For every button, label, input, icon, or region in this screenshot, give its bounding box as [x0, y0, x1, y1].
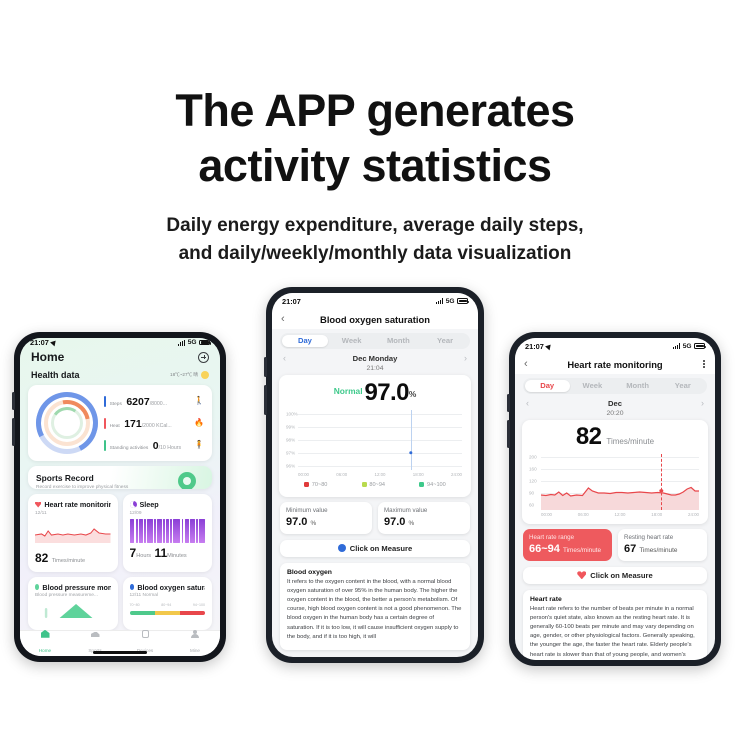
- date-navigator: ‹ Dec Monday ›: [272, 349, 478, 363]
- segment-week[interactable]: Week: [570, 380, 615, 393]
- x-tick: 12:00: [615, 512, 626, 517]
- sports-record-card[interactable]: Sports Record Record exercise to improve…: [28, 466, 212, 489]
- info-title: Heart rate: [530, 596, 700, 603]
- current-reading: 82Times/minute: [522, 423, 708, 451]
- metrics-list: Steps 6207/8000... 🚶 Heat 171/2000 KCal.…: [104, 392, 204, 454]
- metric-standing: Standing activities 0/10 Hours 🧍: [104, 436, 204, 454]
- range-label-high: 94~100: [193, 603, 205, 607]
- blood-oxygen-range-bar: [130, 611, 206, 615]
- metric-steps: Steps 6207/8000... 🚶: [104, 392, 204, 410]
- page-title: The APP generates activity statistics: [0, 84, 750, 194]
- legend-item-low: 70~80: [304, 482, 327, 488]
- metric-label: Steps: [110, 402, 122, 407]
- legend-label: 80~94: [369, 482, 385, 488]
- x-axis-labels: 00:00 06:00 12:00 18:00 24:00: [541, 512, 699, 517]
- info-body: It refers to the oxygen content in the b…: [287, 578, 463, 642]
- resting-heart-rate-card: Resting heart rate 67 Times/minute: [618, 529, 707, 561]
- click-on-measure-button[interactable]: Click on Measure: [280, 540, 470, 557]
- range-label-mid: 80~94: [161, 603, 171, 607]
- subheadline: Daily energy expenditure, average daily …: [0, 212, 750, 268]
- chart-legend: 70~80 80~94 94~100: [279, 476, 471, 488]
- y-tick: 90: [529, 490, 534, 495]
- home-title-text: Home: [31, 350, 64, 364]
- segment-year[interactable]: Year: [660, 380, 705, 393]
- plus-circle-icon[interactable]: [198, 352, 209, 363]
- heart-rate-info: Heart rate Heart rate refers to the numb…: [523, 590, 707, 660]
- status-badge: Normal: [334, 386, 363, 396]
- kebab-menu-icon[interactable]: [703, 360, 705, 368]
- sun-icon: [201, 371, 209, 379]
- current-date: Dec: [608, 399, 622, 408]
- reading-time: 21:04: [272, 365, 478, 372]
- y-tick: 98%: [286, 437, 295, 442]
- min-value: 97.0 %: [286, 516, 366, 528]
- card-subtitle: 12/11 Normal: [130, 593, 206, 598]
- battery-icon: [694, 343, 705, 349]
- measure-icon: [338, 544, 346, 552]
- x-tick: 06:00: [578, 512, 589, 517]
- current-date: Dec Monday: [353, 354, 398, 363]
- promo-page: The APP generates activity statistics Da…: [0, 0, 750, 750]
- card-date: 12/11: [35, 511, 111, 516]
- reading-unit: Times/minute: [606, 437, 654, 446]
- flame-icon: 🔥: [194, 419, 204, 427]
- signal-bars-icon: [673, 343, 681, 349]
- nav-bar: ‹ Heart rate monitoring: [515, 354, 715, 374]
- card-title: Blood oxygen saturation: [137, 583, 205, 592]
- phone-right-screen: 21:07 5G ‹ Heart rate monitoring Day Wee…: [515, 338, 715, 660]
- date-navigator: ‹ Dec ›: [515, 394, 715, 408]
- card-title: Blood pressure monitoring: [42, 583, 110, 592]
- legend-item-high: 94~100: [419, 482, 445, 488]
- x-tick: 06:00: [336, 472, 347, 477]
- subheadline-line-2: and daily/weekly/monthly data visualizat…: [0, 240, 750, 268]
- phone-center: 21:07 5G ‹ Blood oxygen saturation Day W…: [266, 287, 484, 663]
- heart-rate-range-card: Heart rate range 66~94 Times/minute: [523, 529, 612, 561]
- headline-line-2: activity statistics: [198, 140, 551, 191]
- weather-info: 18℃~27℃ 晴: [170, 371, 209, 379]
- green-dot-icon: [35, 584, 39, 590]
- nav-title: Blood oxygen saturation: [320, 314, 430, 325]
- x-tick: 00:00: [541, 512, 552, 517]
- y-tick: 160: [529, 466, 537, 471]
- moon-icon: [130, 501, 137, 508]
- info-title: Blood oxygen: [287, 569, 463, 576]
- watch-icon: [142, 630, 149, 638]
- next-date-icon[interactable]: ›: [701, 398, 704, 408]
- home-header: Home: [20, 347, 220, 364]
- phone-center-screen: 21:07 5G ‹ Blood oxygen saturation Day W…: [272, 293, 478, 657]
- signal-bars-icon: [178, 340, 186, 346]
- nav-title: Heart rate monitoring: [567, 359, 662, 370]
- y-tick: 97%: [286, 450, 295, 455]
- chart-marker-line: [661, 454, 662, 510]
- maximum-value-card: Maximum value 97.0 %: [378, 502, 470, 534]
- card-blood-oxygen[interactable]: Blood oxygen saturation 12/11 Normal 70~…: [123, 577, 213, 631]
- blood-oxygen-chart: 100% 99% 98% 97% 96% 00:00 06:00 12:00 1…: [286, 410, 464, 476]
- legend-label: 70~80: [312, 482, 328, 488]
- segment-year[interactable]: Year: [422, 335, 469, 348]
- tab-mine[interactable]: Mine: [170, 630, 220, 656]
- heart-rate-chart: 200 160 120 90 60 00:00 06:00 12:00: [529, 454, 701, 516]
- y-tick: 60: [529, 502, 534, 507]
- legend-item-mid: 80~94: [362, 482, 385, 488]
- y-tick: 96%: [286, 463, 295, 468]
- heart-rate-area-series: [541, 454, 699, 510]
- heart-rate-sparkline: [35, 519, 111, 543]
- tab-label: Mine: [190, 648, 200, 653]
- card-date: 12/09: [130, 511, 206, 516]
- network-label: 5G: [446, 298, 455, 305]
- health-data-label: Health data: [31, 370, 80, 380]
- tab-label: Home: [39, 648, 51, 653]
- chart-marker-line: [411, 410, 412, 470]
- status-bar: 21:07 5G: [20, 338, 220, 347]
- segment-month[interactable]: Month: [615, 380, 660, 393]
- activity-rings: [36, 392, 98, 454]
- x-tick: 24:00: [688, 512, 699, 517]
- current-reading: Normal97.0%: [279, 379, 471, 407]
- max-label: Maximum value: [384, 507, 464, 515]
- metric-heat: Heat 171/2000 KCal... 🔥: [104, 414, 204, 432]
- phone-left: 21:07 5G Home Health data: [14, 332, 226, 662]
- status-time: 21:07: [30, 338, 49, 347]
- subheadline-line-1: Daily energy expenditure, average daily …: [0, 212, 750, 240]
- shoe-icon: [91, 630, 100, 637]
- person-icon: [191, 630, 199, 638]
- weather-text: 18℃~27℃ 晴: [170, 372, 198, 378]
- network-label: 5G: [683, 343, 692, 350]
- y-tick: 200: [529, 454, 537, 459]
- x-tick: 18:00: [651, 512, 662, 517]
- segment-month[interactable]: Month: [375, 335, 422, 348]
- range-value: 66~94 Times/minute: [529, 543, 606, 555]
- range-label-low: 70~80: [130, 603, 140, 607]
- segment-week[interactable]: Week: [328, 335, 375, 348]
- y-tick: 99%: [286, 424, 295, 429]
- health-data-header: Health data 18℃~27℃ 晴: [20, 364, 220, 380]
- range-label: Heart rate range: [529, 534, 606, 542]
- segment-day[interactable]: Day: [282, 335, 329, 348]
- click-on-measure-button[interactable]: Click on Measure: [523, 567, 707, 584]
- resting-label: Resting heart rate: [624, 534, 701, 542]
- minmax-row: Minimum value 97.0 % Maximum value 97.0 …: [272, 497, 478, 534]
- heart-rate-chart-card: 82Times/minute 200 160 120 90 60 00: [522, 420, 708, 524]
- measure-label: Click on Measure: [590, 571, 652, 580]
- max-value: 97.0 %: [384, 516, 464, 528]
- sleep-bar-chart: [130, 519, 206, 543]
- metric-value: 171/2000 KCal...: [124, 418, 172, 430]
- headline-block: The APP generates activity statistics Da…: [0, 0, 750, 268]
- heart-icon: [35, 502, 41, 508]
- network-label: 5G: [188, 339, 197, 346]
- prev-date-icon[interactable]: ‹: [526, 398, 529, 408]
- blood-pressure-graphic: [35, 602, 111, 618]
- signal-bars-icon: [436, 298, 444, 304]
- measure-label: Click on Measure: [350, 544, 412, 553]
- blood-oxygen-chart-card: Normal97.0% 100% 99% 98% 97% 96% 00:00 0…: [279, 375, 471, 497]
- home-icon: [41, 630, 50, 638]
- resting-value: 67 Times/minute: [624, 543, 701, 555]
- tab-home[interactable]: Home: [20, 630, 70, 656]
- home-indicator: [93, 651, 147, 654]
- x-tick: 18:00: [413, 472, 424, 477]
- prev-date-icon[interactable]: ‹: [283, 353, 286, 363]
- period-segmented-control[interactable]: Day Week Month Year: [523, 378, 707, 394]
- reading-time: 20:20: [515, 410, 715, 417]
- status-bar: 21:07 5G: [272, 293, 478, 309]
- location-arrow-icon: [50, 339, 58, 347]
- info-body: Heart rate refers to the number of beats…: [530, 605, 700, 660]
- card-heart-rate[interactable]: Heart rate monitoring 12/11 82 Times/min…: [28, 494, 118, 572]
- card-blood-pressure[interactable]: Blood pressure monitoring Blood pressure…: [28, 577, 118, 631]
- metric-value: 6207/8000...: [126, 396, 167, 408]
- heart-rate-stats-row: Heart rate range 66~94 Times/minute Rest…: [515, 524, 715, 561]
- chevron-left-icon[interactable]: ‹: [281, 314, 285, 325]
- reading-value: 97.0: [365, 379, 409, 406]
- blue-dot-icon: [130, 584, 135, 590]
- battery-icon: [199, 340, 210, 346]
- card-sleep[interactable]: Sleep 12/09 7Hour: [123, 494, 213, 572]
- x-axis-labels: 00:00 06:00 12:00 18:00 24:00: [298, 472, 462, 477]
- legend-label: 94~100: [427, 482, 446, 488]
- reading-value: 82: [576, 423, 602, 450]
- x-tick: 24:00: [451, 472, 462, 477]
- metric-label: Heat: [110, 424, 120, 429]
- x-tick: 12:00: [375, 472, 386, 477]
- minimum-value-card: Minimum value 97.0 %: [280, 502, 372, 534]
- y-tick: 100%: [286, 411, 298, 416]
- heart-icon: [577, 571, 586, 579]
- walking-icon: 🚶: [194, 397, 204, 405]
- headline-line-1: The APP generates: [175, 85, 574, 136]
- nav-bar: ‹ Blood oxygen saturation: [272, 309, 478, 329]
- blood-oxygen-info: Blood oxygen It refers to the oxygen con…: [280, 563, 470, 650]
- card-title: Sleep: [140, 500, 159, 509]
- chart-data-point: [409, 451, 412, 454]
- segment-day[interactable]: Day: [525, 380, 570, 393]
- location-arrow-icon: [545, 342, 553, 350]
- metric-cards-grid: Heart rate monitoring 12/11 82 Times/min…: [28, 494, 212, 630]
- card-subtitle: Blood pressure measureme...: [35, 593, 111, 598]
- battery-icon: [457, 298, 468, 304]
- chevron-left-icon[interactable]: ‹: [524, 359, 528, 370]
- y-tick: 120: [529, 478, 537, 483]
- card-title: Heart rate monitoring: [44, 500, 110, 509]
- health-summary-card[interactable]: Steps 6207/8000... 🚶 Heat 171/2000 KCal.…: [28, 385, 212, 461]
- status-time: 21:07: [282, 297, 301, 306]
- status-bar: 21:07 5G: [515, 338, 715, 354]
- phone-left-screen: 21:07 5G Home Health data: [20, 338, 220, 656]
- next-date-icon[interactable]: ›: [464, 353, 467, 363]
- card-value: 82 Times/minute: [35, 551, 111, 565]
- min-label: Minimum value: [286, 507, 366, 515]
- stand-icon: 🧍: [194, 441, 204, 449]
- card-value: 7Hours 11Minutes: [130, 546, 206, 560]
- x-tick: 00:00: [298, 472, 309, 477]
- phone-right: 21:07 5G ‹ Heart rate monitoring Day Wee…: [509, 332, 721, 666]
- metric-value: 0/10 Hours: [153, 440, 181, 452]
- status-time: 21:07: [525, 342, 544, 351]
- metric-label: Standing activities: [110, 446, 149, 451]
- period-segmented-control[interactable]: Day Week Month Year: [280, 333, 470, 349]
- reading-unit: %: [409, 389, 416, 399]
